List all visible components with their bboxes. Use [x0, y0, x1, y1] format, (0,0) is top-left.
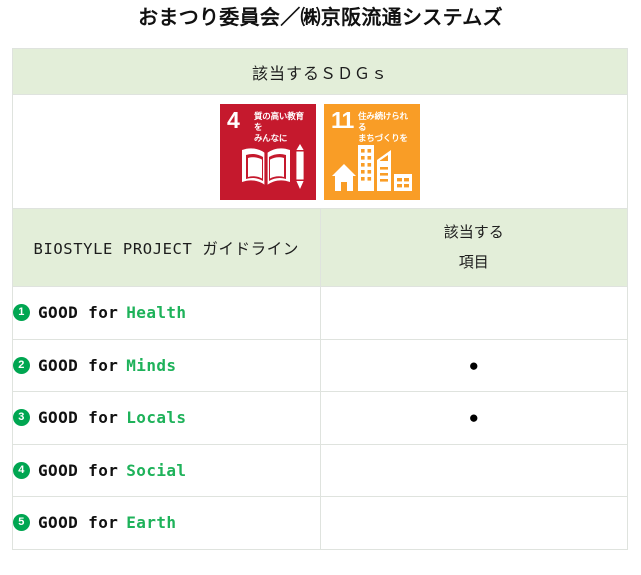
guideline-keyword-5: Earth: [126, 513, 176, 532]
sdg-4-number: 4: [227, 109, 239, 132]
open-book-and-pencil-icon: [220, 138, 316, 194]
guideline-prefix-4: GOOD for: [38, 461, 118, 480]
guideline-header-row: BIOSTYLE PROJECT ガイドライン 該当する 項目: [13, 209, 628, 287]
applicable-cell-locals: ●: [320, 392, 628, 445]
guideline-keyword-1: Health: [126, 303, 186, 322]
sdgs-header-cell: 該当するＳＤＧｓ: [13, 49, 628, 95]
sdg-11-number: 11: [331, 109, 353, 132]
sdg-11-sustainable-cities-icon: 11 住み続けられる まちづくりを: [324, 104, 420, 200]
guideline-cell-earth: 5 GOOD for Earth: [13, 497, 321, 550]
badge-number-1: 1: [13, 304, 30, 321]
page-title: おまつり委員会／㈱京阪流通システムズ: [0, 0, 641, 44]
applicable-cell-earth: [320, 497, 628, 550]
sdg-4-label-line1: 質の高い教育を: [254, 111, 304, 132]
guideline-cell-social: 4 GOOD for Social: [13, 444, 321, 497]
sdg-11-label-line1: 住み続けられる: [358, 111, 408, 132]
applicable-header-cell: 該当する 項目: [320, 209, 628, 287]
sdg-4-quality-education-icon: 4 質の高い教育を みんなに: [220, 104, 316, 200]
sdgs-icons-row: 4 質の高い教育を みんなに: [13, 95, 628, 209]
guideline-prefix-3: GOOD for: [38, 408, 118, 427]
guideline-label-locals: 3 GOOD for Locals: [13, 408, 320, 427]
guideline-cell-locals: 3 GOOD for Locals: [13, 392, 321, 445]
sdgs-header-row: 該当するＳＤＧｓ: [13, 49, 628, 95]
applicable-mark-3: ●: [469, 408, 479, 427]
guideline-prefix-2: GOOD for: [38, 356, 118, 375]
guideline-cell-minds: 2 GOOD for Minds: [13, 339, 321, 392]
badge-number-2: 2: [13, 357, 30, 374]
table-row: 2 GOOD for Minds ●: [13, 339, 628, 392]
table-row: 5 GOOD for Earth: [13, 497, 628, 550]
applicable-header-line2: 項目: [321, 248, 628, 278]
sdgs-header-label: 該当するＳＤＧｓ: [13, 60, 627, 84]
table-row: 1 GOOD for Health: [13, 287, 628, 340]
guideline-label-earth: 5 GOOD for Earth: [13, 513, 320, 532]
badge-number-3: 3: [13, 409, 30, 426]
guideline-keyword-2: Minds: [126, 356, 176, 375]
sdg-icon-strip: 4 質の高い教育を みんなに: [13, 95, 627, 208]
applicable-cell-health: [320, 287, 628, 340]
badge-number-5: 5: [13, 514, 30, 531]
guideline-label-social: 4 GOOD for Social: [13, 461, 320, 480]
sdg-guideline-table: 該当するＳＤＧｓ 4 質の高い教育を みんなに: [12, 48, 628, 550]
guideline-header-cell: BIOSTYLE PROJECT ガイドライン: [13, 209, 321, 287]
table-row: 4 GOOD for Social: [13, 444, 628, 497]
guideline-cell-health: 1 GOOD for Health: [13, 287, 321, 340]
guideline-label-minds: 2 GOOD for Minds: [13, 356, 320, 375]
guideline-keyword-4: Social: [126, 461, 186, 480]
city-buildings-icon: [324, 138, 420, 194]
guideline-keyword-3: Locals: [126, 408, 186, 427]
guideline-label-health: 1 GOOD for Health: [13, 303, 320, 322]
sdgs-icons-cell: 4 質の高い教育を みんなに: [13, 95, 628, 209]
applicable-cell-minds: ●: [320, 339, 628, 392]
guideline-header-label: BIOSTYLE PROJECT ガイドライン: [13, 237, 320, 259]
guideline-prefix-5: GOOD for: [38, 513, 118, 532]
guideline-prefix-1: GOOD for: [38, 303, 118, 322]
table-row: 3 GOOD for Locals ●: [13, 392, 628, 445]
applicable-cell-social: [320, 444, 628, 497]
applicable-header-line1: 該当する: [321, 218, 628, 248]
badge-number-4: 4: [13, 462, 30, 479]
applicable-mark-2: ●: [469, 356, 479, 375]
